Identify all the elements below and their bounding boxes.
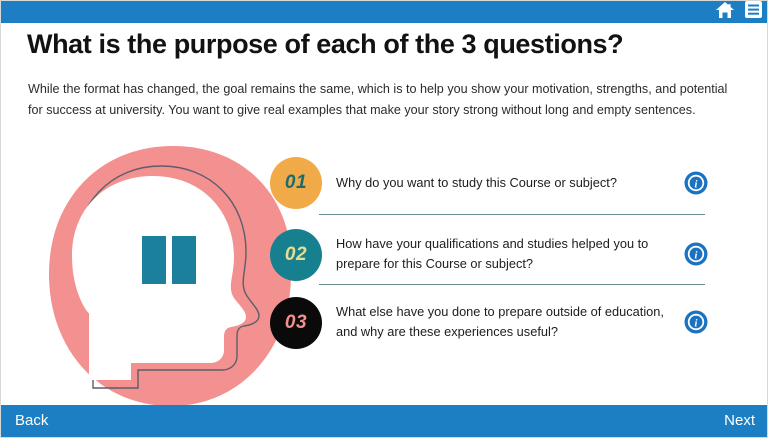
info-icon[interactable]: i (684, 310, 708, 334)
svg-text:i: i (695, 250, 698, 261)
menu-icon[interactable] (744, 0, 763, 24)
question-row-02: How have your qualifications and studies… (336, 229, 708, 279)
intro-paragraph: While the format has changed, the goal r… (28, 79, 740, 121)
question-text-01: Why do you want to study this Course or … (336, 173, 674, 193)
row-divider (319, 214, 705, 215)
next-button[interactable]: Next (710, 405, 768, 437)
question-text-03: What else have you done to prepare outsi… (336, 302, 674, 342)
svg-text:i: i (695, 179, 698, 190)
head-profile-illustration (41, 144, 306, 409)
svg-text:i: i (695, 318, 698, 329)
back-button[interactable]: Back (1, 405, 62, 437)
question-number-badge-01: 01 (270, 157, 322, 209)
top-bar-icon-group (715, 1, 763, 23)
question-row-03: What else have you done to prepare outsi… (336, 297, 708, 347)
question-text-02: How have your qualifications and studies… (336, 234, 674, 274)
info-icon[interactable]: i (684, 242, 708, 266)
slide-page: What is the purpose of each of the 3 que… (0, 0, 768, 438)
question-row-01: Why do you want to study this Course or … (336, 164, 708, 202)
info-icon[interactable]: i (684, 171, 708, 195)
page-title: What is the purpose of each of the 3 que… (27, 27, 727, 61)
top-bar (1, 1, 768, 23)
question-number-badge-03: 03 (270, 297, 322, 349)
row-divider (319, 284, 705, 285)
bottom-nav-bar: Back Next (1, 405, 768, 437)
question-number-badge-02: 02 (270, 229, 322, 281)
home-icon[interactable] (715, 1, 735, 24)
